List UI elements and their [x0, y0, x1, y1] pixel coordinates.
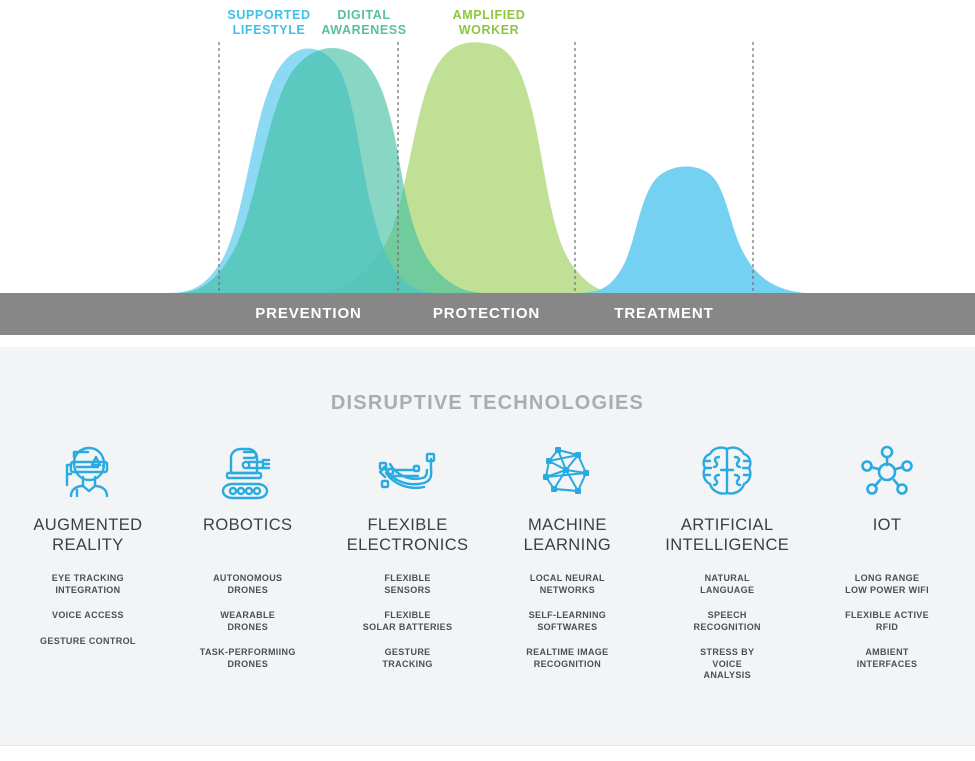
disruptive-technologies-section: DISRUPTIVE TECHNOLOGIES	[0, 347, 975, 745]
tech-item: LONG RANGE LOW POWER WIFI	[807, 573, 967, 596]
tech-item: AMBIENT INTERFACES	[807, 647, 967, 670]
adoption-curves-chart: SUPPORTED LIFESTYLE DIGITAL AWARENESS AM…	[0, 0, 975, 347]
vr-headset-icon	[8, 437, 168, 507]
tech-item: FLEXIBLE SENSORS	[328, 573, 488, 596]
robot-tank-icon	[168, 437, 328, 507]
tech-item: SPEECH RECOGNITION	[647, 610, 807, 633]
tech-column-robotics[interactable]: ROBOTICS AUTONOMOUS DRONES WEARABLE DRON…	[168, 437, 328, 696]
tech-item: LOCAL NEURAL NETWORKS	[487, 573, 647, 596]
tech-column-machine-learning[interactable]: MACHINE LEARNING LOCAL NEURAL NETWORKS S…	[487, 437, 647, 696]
tech-item: GESTURE TRACKING	[328, 647, 488, 670]
tech-item: WEARABLE DRONES	[168, 610, 328, 633]
curve-label-amplified-worker: AMPLIFIED WORKER	[424, 8, 554, 38]
tech-items-machine-learning: LOCAL NEURAL NETWORKS SELF-LEARNING SOFT…	[487, 573, 647, 670]
technology-grid: AUGMENTED REALITY EYE TRACKING INTEGRATI…	[0, 437, 975, 696]
tech-item: FLEXIBLE ACTIVE RFID	[807, 610, 967, 633]
tech-name-iot: IOT	[807, 515, 967, 561]
tech-item: GESTURE CONTROL	[8, 636, 168, 648]
curve-label-digital-awareness: DIGITAL AWARENESS	[305, 8, 423, 38]
tech-item: FLEXIBLE SOLAR BATTERIES	[328, 610, 488, 633]
tech-items-robotics: AUTONOMOUS DRONES WEARABLE DRONES TASK-P…	[168, 573, 328, 670]
stage-bar: PREVENTION PROTECTION TREATMENT	[0, 293, 975, 335]
curve-plot-area	[0, 0, 975, 300]
tech-name-machine-learning: MACHINE LEARNING	[487, 515, 647, 561]
stage-label-protection: PROTECTION	[398, 293, 575, 335]
tech-name-augmented-reality: AUGMENTED REALITY	[8, 515, 168, 561]
stage-label-treatment: TREATMENT	[575, 293, 753, 335]
curve-legend: SUPPORTED LIFESTYLE DIGITAL AWARENESS AM…	[0, 0, 975, 45]
tech-column-flexible-electronics[interactable]: FLEXIBLE ELECTRONICS FLEXIBLE SENSORS FL…	[328, 437, 488, 696]
tech-item: STRESS BY VOICE ANALYSIS	[647, 647, 807, 682]
tech-item: VOICE ACCESS	[8, 610, 168, 622]
tech-items-iot: LONG RANGE LOW POWER WIFI FLEXIBLE ACTIV…	[807, 573, 967, 670]
section-title: DISRUPTIVE TECHNOLOGIES	[0, 392, 975, 415]
tech-name-artificial-intelligence: ARTIFICIAL INTELLIGENCE	[647, 515, 807, 561]
tech-name-flexible-electronics: FLEXIBLE ELECTRONICS	[328, 515, 488, 561]
stage-label-prevention: PREVENTION	[219, 293, 398, 335]
curve-supported-lifestyle-right	[575, 166, 805, 293]
tech-item: NATURAL LANGUAGE	[647, 573, 807, 596]
tech-item: EYE TRACKING INTEGRATION	[8, 573, 168, 596]
tech-items-artificial-intelligence: NATURAL LANGUAGE SPEECH RECOGNITION STRE…	[647, 573, 807, 682]
tech-column-iot[interactable]: IOT LONG RANGE LOW POWER WIFI FLEXIBLE A…	[807, 437, 967, 696]
tech-item: TASK-PERFORMIING DRONES	[168, 647, 328, 670]
tech-item: REALTIME IMAGE RECOGNITION	[487, 647, 647, 670]
tech-column-augmented-reality[interactable]: AUGMENTED REALITY EYE TRACKING INTEGRATI…	[8, 437, 168, 696]
brain-circuit-icon	[647, 437, 807, 507]
tech-name-robotics: ROBOTICS	[168, 515, 328, 561]
footer-strip	[0, 745, 975, 761]
tech-items-augmented-reality: EYE TRACKING INTEGRATION VOICE ACCESS GE…	[8, 573, 168, 647]
tech-column-artificial-intelligence[interactable]: ARTIFICIAL INTELLIGENCE NATURAL LANGUAGE…	[647, 437, 807, 696]
iot-hub-icon	[807, 437, 967, 507]
flexible-circuit-icon	[328, 437, 488, 507]
tech-item: SELF-LEARNING SOFTWARES	[487, 610, 647, 633]
tech-item: AUTONOMOUS DRONES	[168, 573, 328, 596]
tech-items-flexible-electronics: FLEXIBLE SENSORS FLEXIBLE SOLAR BATTERIE…	[328, 573, 488, 670]
neural-network-icon	[487, 437, 647, 507]
